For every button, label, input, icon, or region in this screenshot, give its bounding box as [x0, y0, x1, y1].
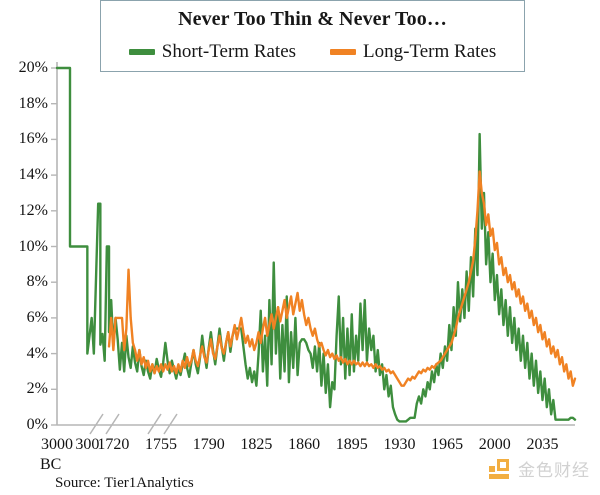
x-tick-label: 3000 [41, 436, 73, 454]
y-tick-label: 8% [4, 273, 48, 291]
y-tick-label: 6% [4, 309, 48, 327]
y-tick-label: 10% [4, 238, 48, 256]
y-tick-label: 14% [4, 166, 48, 184]
x-tick-label: 1720 [97, 436, 129, 454]
y-tick-label: 0% [4, 416, 48, 434]
legend-swatch-short-term [129, 49, 155, 55]
y-tick-label: 20% [4, 59, 48, 77]
watermark-logo-icon [488, 458, 510, 480]
x-tick-label: 1965 [431, 436, 463, 454]
legend-label-short-term: Short-Term Rates [162, 41, 296, 63]
x-tick-label: 1790 [193, 436, 225, 454]
legend-label-long-term: Long-Term Rates [363, 41, 496, 63]
legend: Short-Term Rates Long-Term Rates [100, 41, 525, 63]
chart-title: Never Too Thin & Never Too… [100, 8, 525, 31]
y-tick-label: 12% [4, 202, 48, 220]
y-tick-label: 16% [4, 130, 48, 148]
bc-era-label: BC [40, 456, 61, 474]
y-tick-label: 2% [4, 380, 48, 398]
watermark-text: 金色财经 [518, 456, 590, 481]
y-tick-label: 4% [4, 345, 48, 363]
x-tick-label: 1825 [240, 436, 272, 454]
legend-item-long-term[interactable]: Long-Term Rates [330, 41, 496, 63]
y-tick-label: 18% [4, 95, 48, 113]
source-note: Source: Tier1Analytics [55, 475, 194, 492]
x-tick-label: 1930 [383, 436, 415, 454]
chart-plot-area [0, 0, 600, 495]
x-tick-label: 300 [75, 436, 99, 454]
x-tick-label: 1860 [288, 436, 320, 454]
watermark: 金色财经 [488, 456, 590, 481]
legend-item-short-term[interactable]: Short-Term Rates [129, 41, 296, 63]
x-tick-label: 1895 [336, 436, 368, 454]
chart-container: Never Too Thin & Never Too… Short-Term R… [0, 0, 600, 495]
x-tick-label: 2035 [526, 436, 558, 454]
x-tick-label: 2000 [479, 436, 511, 454]
legend-swatch-long-term [330, 49, 356, 55]
x-tick-label: 1755 [145, 436, 177, 454]
